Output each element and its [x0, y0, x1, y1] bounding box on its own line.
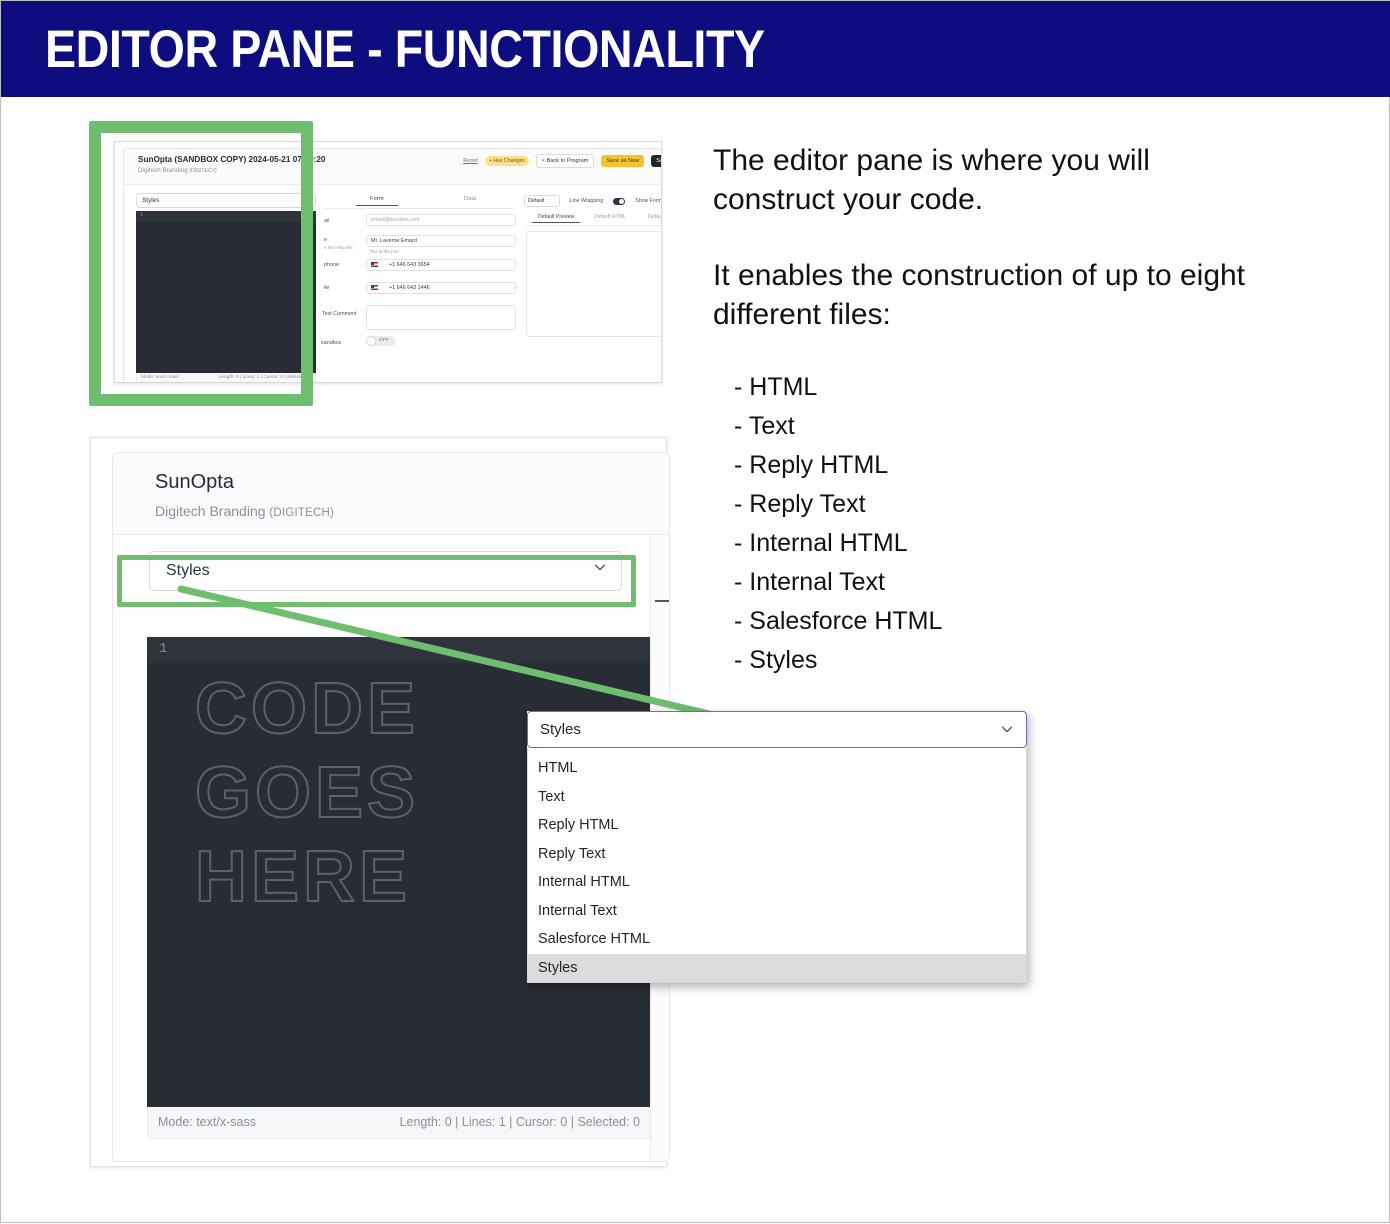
- thumbnail-status-counts: Length: 0 | Lines: 1 | Cursor: 0 | Selec…: [219, 375, 311, 380]
- page-title: EDITOR PANE - FUNCTIONALITY: [45, 20, 765, 80]
- editor-pane-header: SunOpta Digitech Branding (DIGITECH): [113, 453, 669, 535]
- list-item: - Reply HTML: [734, 446, 942, 485]
- chevron-down-icon: ⌄: [528, 197, 556, 204]
- dropdown-option-reply-html[interactable]: Reply HTML: [528, 811, 1026, 840]
- thumbnail-label-email: ail: [324, 218, 329, 224]
- body-copy: The editor pane is where you will constr…: [713, 141, 1273, 371]
- thumbnail-subtitle: Digitech Branding (DIGITECH): [138, 167, 217, 174]
- list-item: - HTML: [734, 368, 942, 407]
- list-item: - Internal HTML: [734, 524, 942, 563]
- back-to-program-button[interactable]: < Back to Program: [536, 154, 594, 168]
- thumbnail-label-comment: . Text Comment: [319, 311, 357, 317]
- chevron-down-icon: [1000, 722, 1014, 736]
- thumbnail-title: SunOpta (SANDBOX COPY) 2024-05-21 07:09:…: [138, 155, 325, 164]
- thumbnail-preview-toolbar: Default ⌄ Line Wrapping Show Form: [524, 193, 662, 209]
- thumbnail-form-tabs: Form Data: [324, 193, 514, 209]
- body-paragraph-2: It enables the construction of up to eig…: [713, 256, 1273, 334]
- tab-underline-indicator: [655, 600, 670, 602]
- dropdown-option-styles[interactable]: Styles: [528, 954, 1026, 983]
- status-mode: Mode: text/x-sass: [158, 1115, 256, 1129]
- dropdown-option-text[interactable]: Text: [528, 783, 1026, 812]
- thumbnail-line-number: 1: [140, 212, 143, 218]
- dropdown-option-internal-text[interactable]: Internal Text: [528, 897, 1026, 926]
- thumbnail-app-window: SunOpta (SANDBOX COPY) 2024-05-21 07:09:…: [123, 148, 662, 383]
- tab-form[interactable]: Form: [370, 196, 384, 202]
- thumbnail-preview-variant-select[interactable]: Default ⌄: [524, 195, 560, 207]
- thumbnail-preview-surface: [526, 231, 662, 337]
- status-counts: Length: 0 | Lines: 1 | Cursor: 0 | Selec…: [400, 1115, 640, 1129]
- toggle-knob: [367, 337, 375, 345]
- thumbnail-toggle-state: OFF: [379, 338, 389, 343]
- toggle-knob: [619, 199, 624, 204]
- slide-header-banner: EDITOR PANE - FUNCTIONALITY: [1, 1, 1390, 97]
- thumbnail-app-header: SunOpta (SANDBOX COPY) 2024-05-21 07:09:…: [124, 149, 662, 185]
- thumbnail-label-mobile: ile: [324, 285, 329, 291]
- us-flag-icon: [371, 262, 378, 267]
- list-item: - Text: [734, 407, 942, 446]
- thumbnail-name-value: Mr. Laverne Emard: [371, 238, 417, 244]
- thumbnail-comment-textarea[interactable]: [366, 305, 516, 330]
- dropdown-option-internal-html[interactable]: Internal HTML: [528, 868, 1026, 897]
- file-type-dropdown-popup[interactable]: Styles HTML Text Reply HTML Reply Text I…: [527, 711, 1027, 983]
- file-type-select[interactable]: Styles: [149, 551, 622, 591]
- panel-title: SunOpta: [155, 471, 234, 494]
- slide-root: { "slide": { "title": "EDITOR PANE - FUN…: [0, 0, 1390, 1223]
- thumbnail-email-value: email@preview.com: [371, 217, 419, 223]
- thumbnail-email-field[interactable]: email@preview.com: [366, 214, 516, 226]
- thumbnail-label-sandbox: sandbox: [321, 340, 341, 346]
- save-button[interactable]: Save: [651, 155, 662, 167]
- thumbnail-editor-statusbar: Mode: text/x-sass Length: 0 | Lines: 1 |…: [136, 373, 316, 383]
- dropdown-option-html[interactable]: HTML: [528, 754, 1026, 783]
- thumbnail-phone-value: +1 646 643 3654: [389, 262, 430, 268]
- dropdown-option-reply-text[interactable]: Reply Text: [528, 840, 1026, 869]
- thumbnail-label-name: e: [324, 237, 327, 243]
- save-as-new-button[interactable]: Save as New: [601, 155, 644, 167]
- thumbnail-screenshot: SunOpta (SANDBOX COPY) 2024-05-21 07:09:…: [114, 141, 662, 383]
- thumbnail-code-editor[interactable]: 1: [136, 211, 316, 373]
- thumbnail-file-type-select[interactable]: Styles ⌄: [136, 193, 316, 208]
- panel-subtitle-code: (DIGITECH): [269, 507, 334, 519]
- editor-line-number: 1: [159, 641, 167, 657]
- thumbnail-name-field[interactable]: Mr. Laverne Emard: [366, 235, 516, 247]
- panel-subtitle: Digitech Branding (DIGITECH): [155, 503, 334, 519]
- panel-subtitle-text: Digitech Branding: [155, 503, 266, 519]
- thumbnail-mobile-value: +1 646 643 1446: [389, 285, 430, 291]
- thumbnail-mobile-field[interactable]: +1 646 643 1446: [366, 282, 516, 294]
- file-type-list: - HTML - Text - Reply HTML - Reply Text …: [734, 368, 942, 680]
- thumbnail-sandbox-toggle[interactable]: OFF: [366, 336, 396, 346]
- thumbnail-show-form-label: Show Form: [635, 198, 662, 204]
- thumbnail-subtitle-code: (DIGITECH): [189, 168, 216, 174]
- list-item: - Internal Text: [734, 563, 942, 602]
- list-item: - Styles: [734, 641, 942, 680]
- thumbnail-editor-gutter: 1: [136, 211, 316, 222]
- body-paragraph-1: The editor pane is where you will constr…: [713, 141, 1273, 219]
- thumbnail-preview-tabs: Default Preview Default HTML Default Tex…: [524, 213, 662, 226]
- list-item: - Salesforce HTML: [734, 602, 942, 641]
- has-changes-badge: + Has Changes: [485, 156, 529, 166]
- thumbnail-phone-field[interactable]: +1 646 643 3654: [366, 259, 516, 271]
- list-item: - Reply Text: [734, 485, 942, 524]
- reset-link[interactable]: Reset: [463, 158, 478, 164]
- editor-statusbar: Mode: text/x-sass Length: 0 | Lines: 1 |…: [147, 1107, 651, 1139]
- thumbnail-label-name-help: s the help text: [324, 245, 353, 250]
- tab-default-text[interactable]: Default Text: [648, 214, 662, 220]
- thumbnail-name-hint: This is the hint: [369, 249, 399, 254]
- thumbnail-action-bar: Reset + Has Changes < Back to Program Sa…: [463, 154, 662, 168]
- dropdown-control[interactable]: Styles: [527, 711, 1027, 748]
- tab-data[interactable]: Data: [464, 196, 476, 202]
- tab-default-html[interactable]: Default HTML: [594, 214, 626, 220]
- tab-default-preview[interactable]: Default Preview: [538, 214, 574, 220]
- editor-gutter: 1: [147, 637, 651, 663]
- thumbnail-subtitle-text: Digitech Branding: [138, 167, 188, 174]
- thumbnail-status-mode: Mode: text/x-sass: [141, 375, 179, 380]
- thumbnail-line-wrapping-toggle[interactable]: [613, 198, 625, 205]
- chevron-down-icon: [593, 560, 607, 574]
- chevron-down-icon: ⌄: [142, 196, 310, 204]
- thumbnail-line-wrapping-label: Line Wrapping: [570, 198, 603, 204]
- dropdown-option-list: HTML Text Reply HTML Reply Text Internal…: [527, 748, 1027, 983]
- us-flag-icon: [371, 285, 378, 290]
- thumbnail-label-phone: phone: [324, 262, 339, 268]
- dropdown-option-salesforce-html[interactable]: Salesforce HTML: [528, 925, 1026, 954]
- file-type-select-value: Styles: [166, 562, 210, 580]
- dropdown-selected-value: Styles: [540, 721, 581, 738]
